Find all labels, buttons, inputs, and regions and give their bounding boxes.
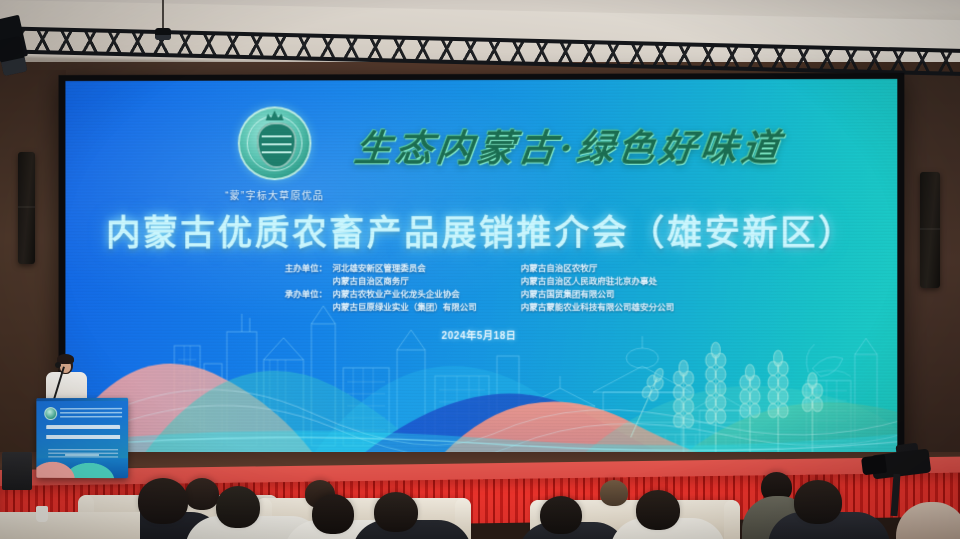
host-line-1: 主办单位： 河北雄安新区管理委员会 <box>285 262 477 275</box>
stage-spotlight <box>155 28 171 40</box>
front-table <box>0 512 140 539</box>
podium-sign <box>36 398 128 478</box>
host-line-2: 内蒙古自治区商务厅 <box>285 275 477 288</box>
wall-speaker-right <box>920 172 940 288</box>
coorganizer-label: 承办单位： <box>285 288 333 301</box>
led-screen: “蒙”字标大草原优品 生态内蒙古·绿色好味道 内蒙古优质农畜产品展销推介会（雄安… <box>65 79 897 455</box>
wall-speaker-left <box>18 152 35 264</box>
water-cup <box>36 506 48 522</box>
coorganizer-value-1: 内蒙古农牧业产业化龙头企业协会 <box>333 288 460 301</box>
audience-head-backrow-1 <box>185 478 219 510</box>
audience-head-5 <box>540 496 582 534</box>
organizers-left-column: 主办单位： 河北雄安新区管理委员会 内蒙古自治区商务厅 承办单位： 内蒙古农牧业… <box>285 262 477 314</box>
screen-header: “蒙”字标大草原优品 生态内蒙古·绿色好味道 <box>65 105 897 202</box>
coorganizer-value-2: 内蒙古巨原绿业实业（集团）有限公司 <box>333 301 477 314</box>
podium-title-text <box>46 425 120 445</box>
spotlight-lens <box>155 35 171 40</box>
coorganizer-label-spacer <box>285 301 333 314</box>
event-date: 2024年5月18日 <box>65 327 897 343</box>
audience-head-1 <box>138 478 188 524</box>
conference-photo-scene: “蒙”字标大草原优品 生态内蒙古·绿色好味道 内蒙古优质农畜产品展销推介会（雄安… <box>0 0 960 539</box>
screen-slogan: 生态内蒙古·绿色好味道 <box>352 117 787 172</box>
host-label: 主办单位： <box>285 262 333 275</box>
screen-decorative-art <box>65 294 897 455</box>
coorganizer-value-4: 内蒙古蒙能农业科技有限公司雄安分公司 <box>521 301 674 314</box>
screen-main-title: 内蒙古优质农畜产品展销推介会（雄安新区） <box>65 205 897 256</box>
meng-mark-emblem-icon <box>238 106 312 180</box>
podium-logo-icon <box>44 407 57 420</box>
emblem-glyph <box>257 122 297 168</box>
coorganizer-line-2: 内蒙古巨原绿业实业（集团）有限公司 <box>285 301 477 314</box>
sofa-arm-right <box>724 500 740 539</box>
led-screen-frame: “蒙”字标大草原优品 生态内蒙古·绿色好味道 内蒙古优质农畜产品展销推介会（雄安… <box>59 73 905 461</box>
audience-head-backrow-3 <box>600 480 628 506</box>
organizers-right-column: 内蒙古自治区农牧厅 内蒙古自治区人民政府驻北京办事处 内蒙古国贸集团有限公司 内… <box>521 262 674 314</box>
audience-head-2 <box>216 486 260 528</box>
podium-decorative-art <box>36 458 128 478</box>
audience-head-6 <box>636 490 680 530</box>
emblem-crown <box>266 110 284 120</box>
audience-head-3 <box>312 494 354 534</box>
podium-slogan-text <box>60 408 122 419</box>
coorganizer-value-3: 内蒙古国贸集团有限公司 <box>521 288 674 301</box>
logo-caption: “蒙”字标大草原优品 <box>200 187 349 202</box>
coorganizer-line-1: 承办单位： 内蒙古农牧业产业化龙头企业协会 <box>285 288 477 301</box>
audience-head-4 <box>374 492 418 532</box>
podium-date-text <box>65 454 99 456</box>
host-value-3: 内蒙古自治区农牧厅 <box>521 262 674 275</box>
organizers-block: 主办单位： 河北雄安新区管理委员会 内蒙古自治区商务厅 承办单位： 内蒙古农牧业… <box>65 262 897 314</box>
video-camera-lens <box>861 455 887 476</box>
podium-microphone-head <box>55 362 61 368</box>
host-label-spacer <box>285 275 333 288</box>
host-value-4: 内蒙古自治区人民政府驻北京办事处 <box>521 275 674 288</box>
audience-head-7 <box>794 480 842 524</box>
logo-block: “蒙”字标大草原优品 <box>200 106 349 202</box>
equipment-case <box>2 452 32 490</box>
hanging-wire <box>162 0 164 30</box>
host-value-2: 内蒙古自治区商务厅 <box>333 275 409 288</box>
host-value-1: 河北雄安新区管理委员会 <box>333 262 426 275</box>
podium-top-edge <box>36 398 128 401</box>
